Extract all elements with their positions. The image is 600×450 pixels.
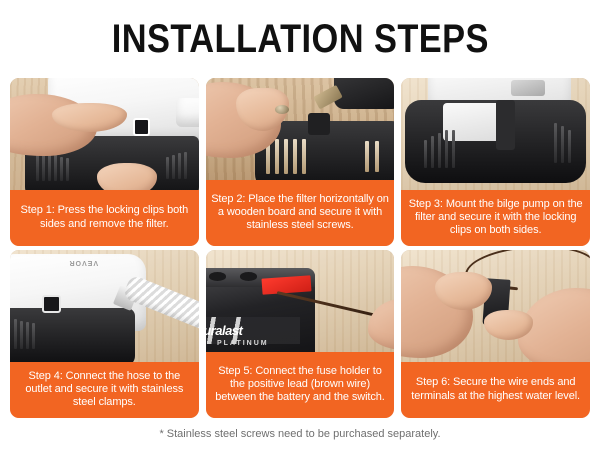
battery-cap-icon	[240, 272, 257, 280]
screw-head-icon	[275, 105, 288, 114]
step-6-photo	[401, 250, 590, 362]
filter-vents-right-icon	[554, 123, 571, 163]
screw-row-icon	[266, 139, 306, 174]
battery-brand-sub-label: PLATINUM	[217, 340, 311, 347]
pump-vents-icon	[14, 319, 35, 348]
step-4-photo: VEVOR	[10, 250, 199, 362]
locking-clip-window-icon	[133, 118, 150, 136]
filter-tab-shape	[308, 113, 331, 135]
step-5-caption: Step 5: Connect the fuse holder to the p…	[206, 352, 395, 418]
screw-row-right-icon	[365, 141, 379, 172]
step-5-photo: Duralast PLATINUM	[206, 250, 395, 352]
pump-brand-label: VEVOR	[55, 250, 112, 266]
filter-vents-icon	[36, 152, 69, 181]
step-3-caption: Step 3: Mount the bilge pump on the filt…	[401, 190, 590, 246]
pump-outlet-shape	[176, 98, 199, 127]
fuse-holder-tag-icon	[262, 275, 312, 295]
battery-brand-label: Duralast	[206, 323, 300, 338]
step-1-photo	[10, 78, 199, 190]
page-title: INSTALLATION STEPS	[111, 19, 488, 59]
step-card-6[interactable]: Step 6: Secure the wire ends and termina…	[401, 250, 590, 418]
finger-shape	[97, 163, 157, 190]
step-1-caption: Step 1: Press the locking clips both sid…	[10, 190, 199, 246]
installation-steps-infographic: INSTALLATION STEPS Step 1: Pr	[0, 0, 600, 450]
drill-chuck-shape	[334, 78, 394, 109]
locking-clip-shape	[496, 100, 515, 149]
step-card-5[interactable]: Duralast PLATINUM Step 5: Connect the fu…	[206, 250, 395, 418]
step-2-photo	[206, 78, 395, 180]
filter-vents-icon	[424, 130, 455, 168]
locking-clip-window-icon	[42, 295, 61, 313]
step-2-caption: Step 2: Place the filter horizontally on…	[206, 180, 395, 246]
step-4-caption: Step 4: Connect the hose to the outlet a…	[10, 362, 199, 418]
step-3-photo	[401, 78, 590, 190]
step-card-2[interactable]: Step 2: Place the filter horizontally on…	[206, 78, 395, 246]
footnote: * Stainless steel screws need to be purc…	[0, 418, 600, 450]
title-container: INSTALLATION STEPS	[0, 0, 600, 78]
step-6-caption: Step 6: Secure the wire ends and termina…	[401, 362, 590, 418]
step-card-1[interactable]: Step 1: Press the locking clips both sid…	[10, 78, 199, 246]
steps-grid: Step 1: Press the locking clips both sid…	[0, 78, 600, 418]
battery-cap-icon	[209, 272, 226, 280]
pump-label-shape	[511, 80, 545, 96]
step-card-4[interactable]: VEVOR Step 4: Connect the hose to the ou…	[10, 250, 199, 418]
step-card-3[interactable]: Step 3: Mount the bilge pump on the filt…	[401, 78, 590, 246]
filter-vents-right-icon	[166, 152, 187, 179]
